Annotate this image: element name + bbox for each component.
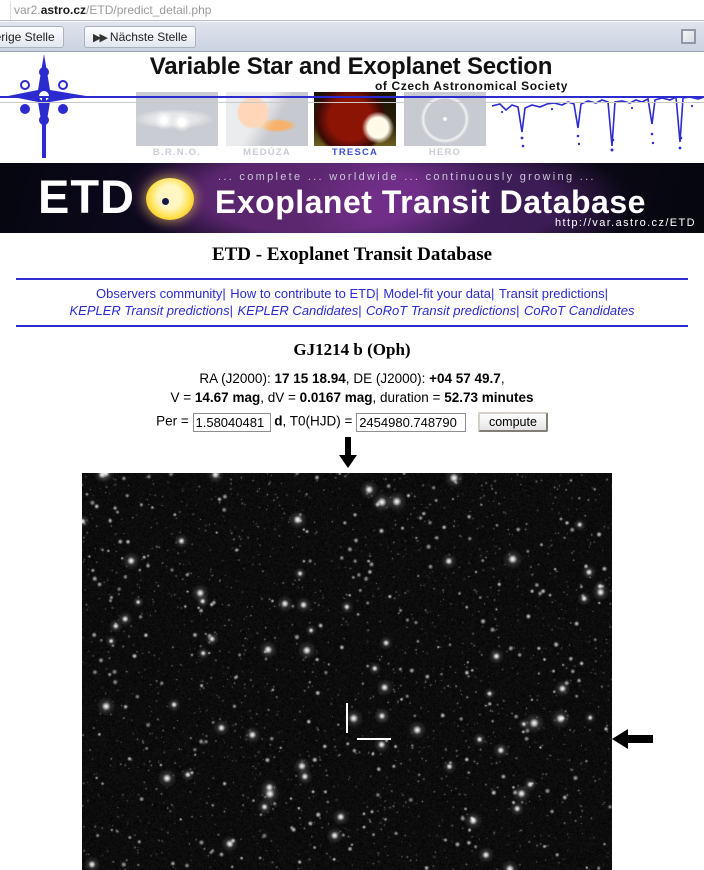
ra-value: 17 15 18.94 [274, 371, 345, 386]
variable-star-section-star-logo[interactable] [8, 54, 116, 160]
nav-separator: | [222, 286, 225, 301]
etd-tagline: ... complete ... worldwide ... continuou… [218, 171, 596, 183]
t0-label: T0(HJD) = [290, 414, 353, 429]
section-label-tresca[interactable]: TRESCA [314, 147, 396, 158]
url-domain: astro.cz [41, 3, 86, 17]
url-bar[interactable]: var2.astro.cz/ETD/predict_detail.php [0, 0, 704, 21]
next-match-label: Nächste Stelle [110, 30, 187, 44]
nav-separator: | [376, 286, 379, 301]
period-input[interactable] [193, 413, 271, 432]
nav-link-corot-transit-predictions[interactable]: CoRoT Transit predictions [366, 303, 516, 318]
browser-chrome: var2.astro.cz/ETD/predict_detail.php ◀◀V… [0, 0, 704, 52]
page-title: ETD - Exoplanet Transit Database [0, 244, 704, 266]
de-label: DE (J2000): [353, 371, 425, 386]
down-arrow-annotation [338, 437, 358, 469]
etd-url: http://var.astro.cz/ETD [555, 217, 696, 229]
section-label-brno[interactable]: B.R.N.O. [136, 147, 218, 158]
section-thumb-meduza[interactable] [226, 92, 308, 146]
nav-top-rule [16, 278, 688, 280]
page-content: ETD - Exoplanet Transit Database Observe… [0, 233, 704, 432]
previous-match-label: Vorherige Stelle [0, 30, 55, 44]
url-bar-left-edge [0, 1, 11, 20]
nav-bottom-rule [16, 325, 688, 327]
object-name: GJ1214 b (Oph) [0, 340, 704, 360]
nav-link-model-fit[interactable]: Model-fit your data [383, 286, 491, 301]
finder-chart-starfield[interactable] [82, 473, 612, 870]
header-blue-rule [0, 96, 704, 98]
section-thumb-hero[interactable] [404, 92, 486, 146]
nav-link-corot-candidates[interactable]: CoRoT Candidates [524, 303, 635, 318]
section-thumb-brno[interactable] [136, 92, 218, 146]
object-coordinates-line: RA (J2000): 17 15 18.94, DE (J2000): +04… [0, 369, 704, 388]
nav-separator: | [516, 303, 519, 318]
photometry-comma-2: , [372, 390, 376, 405]
highlight-all-checkbox[interactable] [681, 29, 696, 44]
checkbox-inner [683, 31, 694, 42]
target-star-crosshair-vertical [346, 703, 348, 733]
section-label-meduza[interactable]: MEDÚZA [226, 147, 308, 158]
etd-acronym: ETD [38, 171, 135, 223]
coord-comma-2: , [501, 371, 505, 386]
section-thumb-tresca[interactable] [314, 92, 396, 146]
nav-link-transit-predictions[interactable]: Transit predictions [499, 286, 605, 301]
next-match-button[interactable]: ▶▶Nächste Stelle [84, 26, 196, 48]
find-toolbar: ◀◀Vorherige Stelle ▶▶Nächste Stelle [0, 21, 704, 52]
t0-input[interactable] [356, 413, 466, 432]
period-unit: d [274, 414, 282, 429]
sun-transit-icon [146, 178, 194, 220]
double-chevron-right-icon: ▶▶ [93, 32, 106, 44]
nav-link-observers-community[interactable]: Observers community [96, 286, 222, 301]
spectrum-graphic [492, 88, 704, 156]
section-label-hero[interactable]: HERO [404, 147, 486, 158]
site-header: Variable Star and Exoplanet Section of C… [0, 52, 704, 162]
v-label: V = [171, 390, 192, 405]
ephemeris-form: Per = d, T0(HJD) = compute [0, 412, 704, 432]
de-value: +04 57 49.7 [429, 371, 501, 386]
photometry-comma: , [260, 390, 264, 405]
starfield-canvas [82, 473, 612, 870]
page-header-title: Variable Star and Exoplanet Section [128, 53, 574, 81]
form-comma: , [283, 414, 287, 429]
nav-separator: | [358, 303, 361, 318]
etd-banner[interactable]: ETD ... complete ... worldwide ... conti… [0, 163, 704, 233]
nav-link-kepler-transit-predictions[interactable]: KEPLER Transit predictions [70, 303, 230, 318]
target-star-crosshair-horizontal [357, 738, 391, 740]
previous-match-button[interactable]: ◀◀Vorherige Stelle [0, 26, 64, 48]
ra-label: RA (J2000): [199, 371, 270, 386]
nav-links: Observers community| How to contribute t… [8, 285, 696, 319]
browser-window: var2.astro.cz/ETD/predict_detail.php ◀◀V… [0, 0, 704, 870]
url-prefix: var2. [14, 3, 41, 17]
compute-button[interactable]: compute [478, 412, 548, 432]
url-text: var2.astro.cz/ETD/predict_detail.php [14, 0, 211, 21]
period-label: Per = [156, 414, 189, 429]
etd-title: Exoplanet Transit Database [215, 184, 646, 221]
duration-value: 52.73 minutes [444, 390, 533, 405]
duration-label: duration = [380, 390, 440, 405]
coord-comma: , [346, 371, 350, 386]
nav-separator: | [605, 286, 608, 301]
dv-label: dV = [268, 390, 296, 405]
nav-link-kepler-candidates[interactable]: KEPLER Candidates [238, 303, 359, 318]
transiting-planet-dot [162, 198, 169, 205]
nav-separator: | [491, 286, 494, 301]
dv-value: 0.0167 mag [300, 390, 373, 405]
header-grey-rule [0, 102, 704, 103]
object-parameters: RA (J2000): 17 15 18.94, DE (J2000): +04… [0, 369, 704, 407]
object-photometry-line: V = 14.67 mag, dV = 0.0167 mag, duration… [0, 388, 704, 407]
url-suffix: /ETD/predict_detail.php [86, 3, 211, 17]
nav-link-how-to-contribute[interactable]: How to contribute to ETD [230, 286, 375, 301]
nav-separator: | [230, 303, 233, 318]
v-value: 14.67 mag [195, 390, 260, 405]
left-arrow-annotation [612, 726, 654, 752]
